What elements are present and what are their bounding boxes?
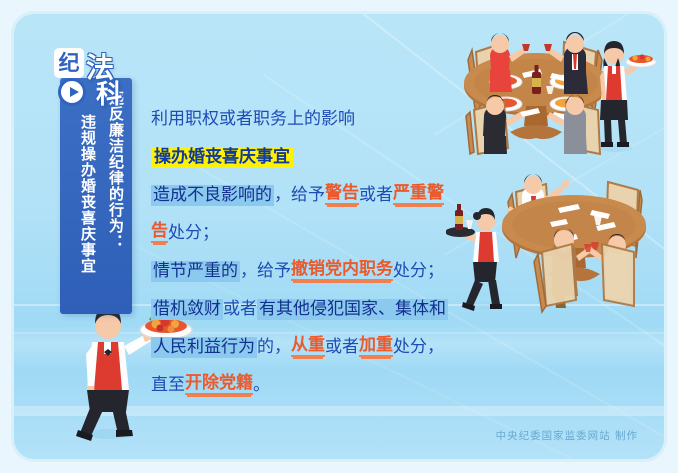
- body-text-line: 借机敛财或者有其他侵犯国家、集体和: [151, 290, 481, 328]
- text-segment-plain: ，给予: [240, 263, 291, 280]
- logo-char-fa: 法: [86, 54, 114, 82]
- logo-char-ji: 纪: [54, 48, 84, 78]
- play-icon: [58, 78, 86, 106]
- credit-text: 中央纪委国家监委网站 制作: [496, 428, 638, 443]
- text-segment-plain: 或者: [325, 339, 359, 356]
- text-segment-yellow: 操办婚丧喜庆事宜: [151, 147, 293, 168]
- poster-canvas: 纪 法 科 违反廉洁纪律的行为： 违规操办婚丧喜庆事宜 利用职权或者职务上的影响…: [0, 0, 678, 473]
- text-segment-red: 警告: [325, 185, 359, 205]
- text-segment-plain: 直至: [151, 377, 185, 394]
- text-segment-plain: 或者: [223, 301, 257, 318]
- text-segment-bluehl: 借机敛财: [151, 299, 223, 320]
- text-segment-plain: 处分，: [393, 339, 444, 356]
- poster-panel: 纪 法 科 违反廉洁纪律的行为： 违规操办婚丧喜庆事宜 利用职权或者职务上的影响…: [14, 14, 664, 459]
- text-segment-plain: 利用职权或者职务上的影响: [151, 111, 355, 128]
- body-text-line: 告处分；: [151, 214, 481, 252]
- text-segment-red: 开除党籍: [185, 375, 253, 395]
- logo-char-ke: 科: [96, 82, 122, 108]
- body-text-line: 情节严重的，给予撤销党内职务处分；: [151, 252, 481, 290]
- text-segment-bluehl: 有其他侵犯国家、集体和: [257, 299, 448, 320]
- text-segment-red: 告: [151, 223, 168, 243]
- body-text-block: 利用职权或者职务上的影响操办婚丧喜庆事宜造成不良影响的，给予警告或者严重警告处分…: [151, 100, 481, 404]
- text-segment-plain: 处分；: [393, 263, 444, 280]
- text-segment-bluehl: 造成不良影响的: [151, 185, 274, 206]
- text-segment-bluehl: 人民利益行为: [151, 337, 257, 358]
- body-text-line: 造成不良影响的，给予警告或者严重警: [151, 176, 481, 214]
- body-text-line: 直至开除党籍。: [151, 366, 481, 404]
- banner-column-right: 违反廉洁纪律的行为：: [107, 90, 124, 250]
- text-segment-plain: ，给予: [274, 187, 325, 204]
- text-segment-red: 从重: [291, 337, 325, 357]
- text-segment-red: 撤销党内职务: [291, 261, 393, 281]
- body-text-line: 人民利益行为的，从重或者加重处分，: [151, 328, 481, 366]
- body-text-line: 利用职权或者职务上的影响: [151, 100, 481, 138]
- text-segment-plain: 或者: [359, 187, 393, 204]
- text-segment-red: 加重: [359, 337, 393, 357]
- text-segment-plain: 处分；: [168, 225, 219, 242]
- text-segment-bluehl: 情节严重的: [151, 261, 240, 282]
- body-text-line: 操办婚丧喜庆事宜: [151, 138, 481, 176]
- waitress-with-platter: [586, 36, 656, 156]
- text-segment-plain: 。: [253, 377, 270, 394]
- text-segment-red: 严重警: [393, 185, 444, 205]
- logo: 纪 法 科: [54, 48, 148, 114]
- banner-column-left: 违规操办婚丧喜庆事宜: [79, 114, 96, 274]
- text-segment-plain: 的，: [257, 339, 291, 356]
